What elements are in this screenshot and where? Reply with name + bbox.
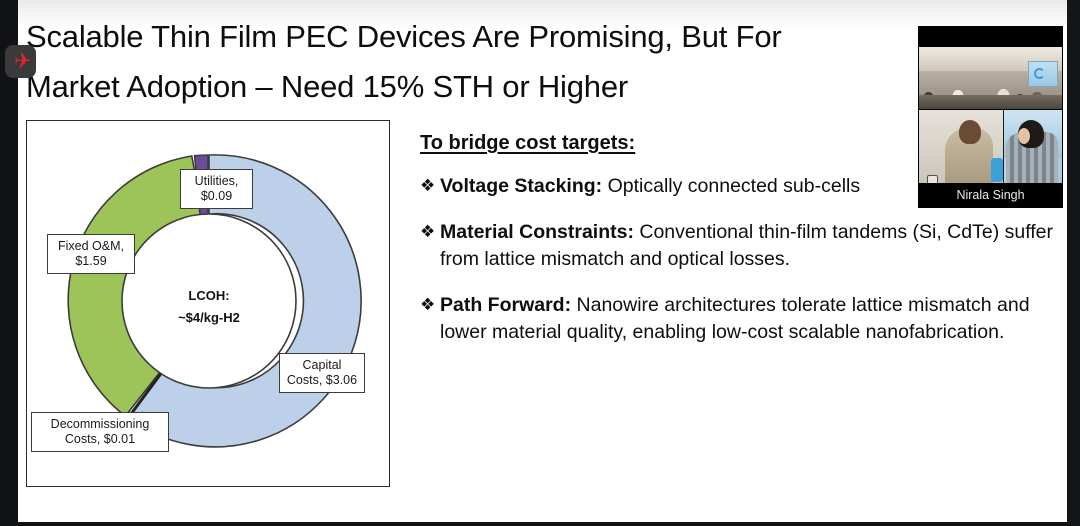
- bullet-term: Material Constraints:: [440, 221, 634, 243]
- donut-center-label: LCOH: ~$4/kg-H2: [149, 285, 269, 329]
- bullet-text: Path Forward: Nanowire architectures tol…: [440, 292, 1065, 346]
- projector-screen: [1028, 61, 1058, 87]
- conference-table: [919, 95, 1063, 109]
- two-people-thumbnail: [919, 110, 1063, 188]
- tile-divider: [1003, 110, 1004, 188]
- bullet-rest: Optically connected sub-cells: [602, 175, 860, 197]
- screen-root: Scalable Thin Film PEC Devices Are Promi…: [0, 0, 1080, 526]
- donut-plot-area: Utilities, $0.09 Fixed O&M, $1.59 Decomm…: [27, 121, 389, 486]
- video-tile-conference-room[interactable]: [919, 47, 1063, 109]
- window-right-rail: [1067, 0, 1080, 526]
- diamond-bullet-icon: ❖: [420, 292, 440, 319]
- video-tile-two-people[interactable]: [919, 110, 1063, 188]
- donut-label-decommissioning: Decommissioning Costs, $0.01: [31, 412, 169, 452]
- screen-logo-icon: [1034, 68, 1045, 79]
- app-icon[interactable]: ✈: [5, 45, 36, 78]
- donut-label-fixed-om: Fixed O&M, $1.59: [47, 234, 135, 274]
- app-icon-mark: ✈: [13, 51, 31, 71]
- participant-name-label: Nirala Singh: [919, 183, 1062, 207]
- donut-label-utilities: Utilities, $0.09: [180, 169, 253, 209]
- diamond-bullet-icon: ❖: [420, 173, 440, 200]
- bullet-text: Material Constraints: Conventional thin-…: [440, 219, 1065, 273]
- person-left-head: [959, 120, 981, 144]
- lcoh-donut-chart: Utilities, $0.09 Fixed O&M, $1.59 Decomm…: [26, 120, 390, 487]
- page-title: Scalable Thin Film PEC Devices Are Promi…: [26, 12, 936, 112]
- diamond-bullet-icon: ❖: [420, 219, 440, 246]
- bullet-term: Voltage Stacking:: [440, 175, 602, 197]
- window-left-rail: [0, 0, 18, 526]
- water-bottle: [991, 158, 1003, 182]
- presentation-slide: Scalable Thin Film PEC Devices Are Promi…: [18, 0, 1067, 522]
- donut-label-capital: Capital Costs, $3.06: [279, 353, 365, 393]
- video-conference-panel[interactable]: Nirala Singh: [918, 26, 1063, 208]
- bullet-material-constraints: ❖ Material Constraints: Conventional thi…: [420, 219, 1065, 273]
- bullet-term: Path Forward:: [440, 294, 571, 316]
- person-right-face: [1018, 128, 1030, 144]
- conference-room-thumbnail: [919, 47, 1063, 109]
- bullet-path-forward: ❖ Path Forward: Nanowire architectures t…: [420, 292, 1065, 346]
